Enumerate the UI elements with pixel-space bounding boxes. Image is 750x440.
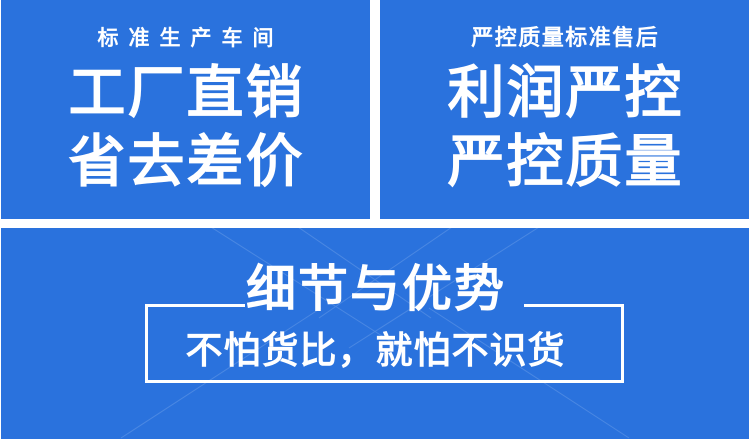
quality-eyebrow-text: 严控质量标准售后 xyxy=(470,27,660,49)
panel-quality-control: 严控质量标准售后 利润严控 严控质量 xyxy=(380,0,749,219)
promo-banner: 标准生产车间 工厂直销 省去差价 严控质量标准售后 利润严控 严控质量 细节与优… xyxy=(0,0,750,440)
details-title: 细节与优势 xyxy=(0,264,750,314)
factory-headline-line-2: 省去差价 xyxy=(67,134,305,191)
factory-headline-line-1: 工厂直销 xyxy=(67,65,305,122)
details-subtitle: 不怕货比，就怕不识货 xyxy=(0,332,750,369)
quality-headline-line-2: 严控质量 xyxy=(446,134,684,191)
top-panel-row: 标准生产车间 工厂直销 省去差价 严控质量标准售后 利润严控 严控质量 xyxy=(0,0,750,219)
factory-eyebrow-text: 标准生产车间 xyxy=(88,28,284,49)
quality-headline-line-1: 利润严控 xyxy=(446,65,684,122)
panel-factory-direct-sales: 标准生产车间 工厂直销 省去差价 xyxy=(1,0,370,219)
